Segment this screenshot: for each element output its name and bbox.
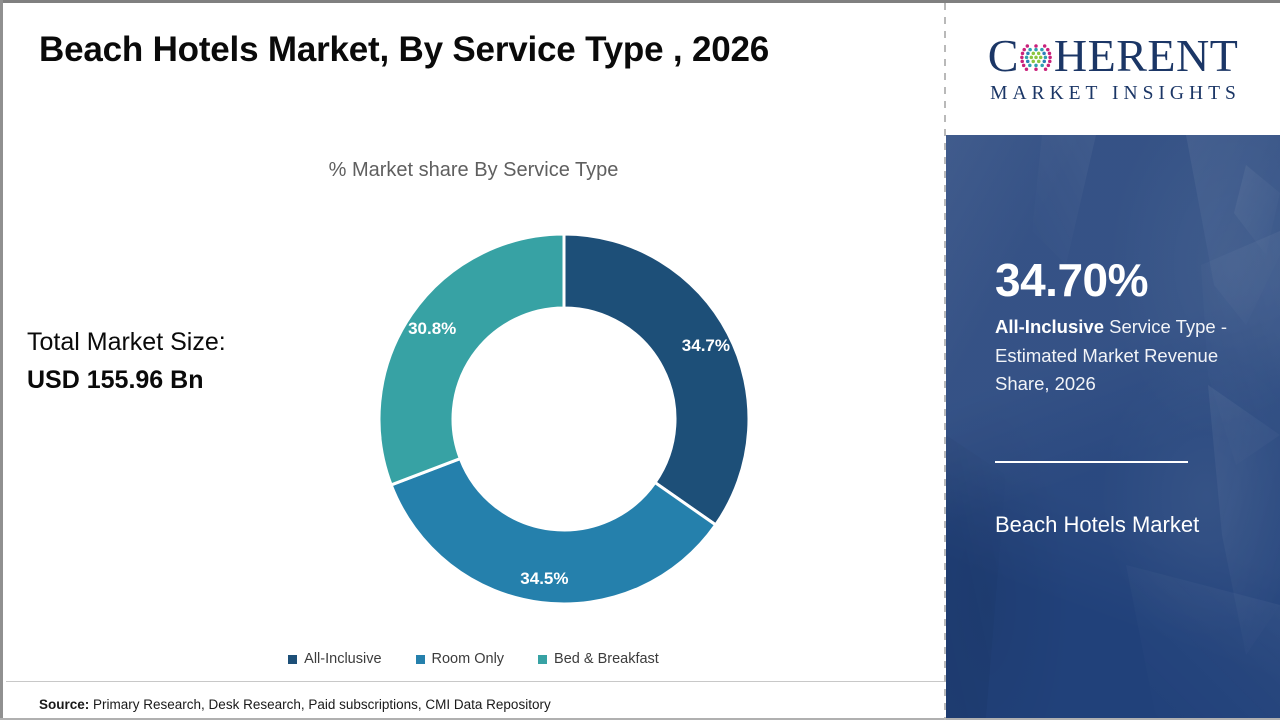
legend-label: Bed & Breakfast [554,651,659,667]
highlight-description: All-Inclusive Service Type - Estimated M… [995,313,1261,399]
legend-item[interactable]: Bed & Breakfast [538,651,659,667]
globe-dot [1028,64,1032,68]
globe-dot [1022,64,1026,68]
legend-item[interactable]: Room Only [416,651,505,667]
panel-market-name: Beach Hotels Market [995,503,1245,547]
right-side-panel: C HERENT MARKET INSIGHTS [946,3,1280,718]
globe-dot [1034,56,1038,60]
globe-dot [1026,52,1030,56]
legend-label: All-Inclusive [304,651,381,667]
infographic-page: Beach Hotels Market, By Service Type , 2… [0,0,1280,720]
globe-dot [1042,60,1046,64]
chart-subtitle: % Market share By Service Type [3,159,944,182]
globe-dot [1040,64,1044,68]
donut-slice-label: 34.7% [682,336,730,355]
panel-background-texture [946,135,1280,718]
globe-dot [1048,52,1052,56]
globe-dot [1044,56,1048,60]
globe-dot [1020,60,1024,64]
logo-tagline: MARKET INSIGHTS [985,83,1241,105]
globe-dot [1029,56,1033,60]
globe-dot [1021,52,1025,56]
donut-chart: 34.7%34.5%30.8% [378,233,750,605]
globe-dot [1044,67,1048,71]
source-text: Primary Research, Desk Research, Paid su… [93,697,551,712]
legend-swatch-icon [416,655,425,664]
globe-dot [1037,52,1041,56]
globe-dots-icon [1019,41,1053,75]
logo-letter-c: C [988,33,1019,79]
globe-dot [1026,60,1030,64]
page-title: Beach Hotels Market, By Service Type , 2… [39,30,899,70]
globe-dot [1025,44,1029,48]
donut-chart-svg: 34.7%34.5%30.8% [378,233,750,605]
legend-label: Room Only [432,651,505,667]
total-market-size-value: USD 155.96 Bn [27,361,327,399]
globe-dot [1031,60,1035,64]
globe-dot [1025,67,1029,71]
globe-dot [1025,56,1029,60]
logo-letters-rest: HERENT [1054,33,1238,79]
source-divider [6,681,947,682]
globe-dot [1034,44,1038,48]
highlight-description-bold: All-Inclusive [995,316,1104,337]
logo-wordmark: C HERENT [988,33,1239,79]
globe-dot [1043,44,1047,48]
legend-swatch-icon [288,655,297,664]
globe-dot [1039,56,1043,60]
donut-slice-label: 34.5% [520,569,568,588]
brand-logo: C HERENT MARKET INSIGHTS [946,3,1280,135]
globe-dot [1046,48,1050,52]
globe-dot [1031,52,1035,56]
source-label: Source: [39,697,89,712]
globe-dot [1034,67,1038,71]
donut-slice-label: 30.8% [408,319,456,338]
chart-legend: All-InclusiveRoom OnlyBed & Breakfast [3,651,944,667]
highlight-percentage: 34.70% [995,253,1148,307]
globe-dot [1034,48,1038,52]
total-market-size-label: Total Market Size: [27,323,327,361]
donut-slice [379,234,564,485]
globe-dot [1028,48,1032,52]
legend-swatch-icon [538,655,547,664]
globe-dot [1042,52,1046,56]
globe-dot [1034,64,1038,68]
globe-dot [1048,60,1052,64]
globe-dot [1040,48,1044,52]
globe-dot [1020,56,1024,60]
main-content-area: Beach Hotels Market, By Service Type , 2… [3,3,944,718]
panel-divider-line [995,461,1188,463]
legend-item[interactable]: All-Inclusive [288,651,381,667]
globe-dot [1022,48,1026,52]
globe-dot [1048,56,1052,60]
total-market-size-block: Total Market Size: USD 155.96 Bn [27,323,327,399]
globe-dot [1037,60,1041,64]
source-footer: Source: Primary Research, Desk Research,… [39,697,551,712]
globe-dot [1046,64,1050,68]
donut-slice [564,234,749,525]
panel-body: 34.70% All-Inclusive Service Type - Esti… [946,135,1280,718]
